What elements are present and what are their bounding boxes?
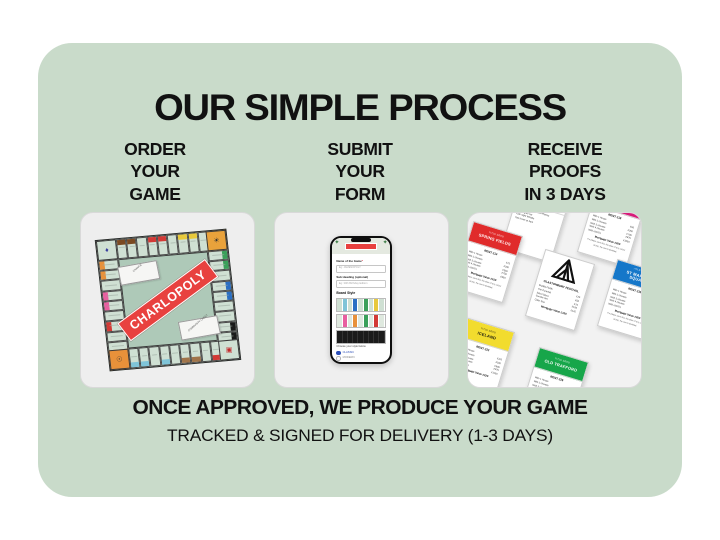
poster-canvas: OUR SIMPLE PROCESS ORDER YOUR GAME SUBMI…	[0, 0, 720, 540]
step-submit-line-1: SUBMIT	[265, 138, 455, 160]
step-titles-row: ORDER YOUR GAME SUBMIT YOUR FORM RECEIVE…	[60, 138, 660, 205]
board-corner-jail-icon: ☉	[108, 349, 130, 371]
page-title: OUR SIMPLE PROCESS	[28, 87, 691, 129]
section-title-board-style: Board Style	[336, 292, 385, 295]
hero-logo-band	[345, 243, 377, 251]
radio-dot-icon	[336, 351, 341, 356]
hero-left-icon: ✦	[334, 239, 339, 246]
card-game-board: ♦ ☀ ☉ ▣ CHANCE COMMUNITY CHEST CHARLOPOL…	[80, 212, 255, 388]
deed-card-old-trafford: TITLE DEED OLD TRAFFORD RENT £26 With 1 …	[519, 347, 589, 387]
deed-card-north-end: TITLE DEED NORTH END RENT £18 With 1 Hou…	[577, 213, 641, 267]
deed-cards-collage: TITLE DEED THE SOCIAL Travelling, Friend…	[468, 213, 641, 387]
step-order-line-3: GAME	[60, 183, 250, 205]
form-hint-style: Choose your style below	[336, 346, 385, 349]
field-label-game-name: Name of the Game*	[336, 260, 385, 263]
deed-body: Travelling, Friends and Parties Best nig…	[510, 213, 564, 236]
deed-card-st-martins-square: TITLE DEED ST MARTINS SQUARE RENT £35 Wi…	[597, 259, 641, 341]
board-style-preview-2[interactable]	[336, 314, 385, 328]
board-style-preview-1[interactable]	[336, 298, 385, 312]
step-receive-line-1: RECEIVE	[470, 138, 660, 160]
field-label-sub-heading: Sub Heading (optional)	[336, 276, 385, 279]
step-receive-line-3: IN 3 DAYS	[470, 183, 660, 205]
board-corner-free-parking-icon: ☀	[205, 230, 227, 252]
footer-line-2: TRACKED & SIGNED FOR DELIVERY (1-3 DAYS)	[32, 426, 689, 446]
step-order-line-2: YOUR	[60, 160, 250, 182]
phone-screen: ✦ ✦ Name of the Game* Eg: JAMESOPOLY Sub…	[332, 238, 389, 361]
field-input-sub-heading[interactable]: Eg: 30th Birthday Edition	[336, 280, 385, 288]
monopoly-board-image: ♦ ☀ ☉ ▣ CHANCE COMMUNITY CHEST CHARLOPOL…	[94, 229, 240, 372]
deed-body: RENT £35 With 1 House£175 With 2 Houses£…	[600, 279, 641, 334]
phone-notch	[351, 238, 371, 242]
footer-line-1: ONCE APPROVED, WE PRODUCE YOUR GAME	[32, 396, 689, 420]
board-corner-go-icon: ♦	[95, 239, 117, 261]
step-title-order: ORDER YOUR GAME	[60, 138, 250, 205]
footer-block: ONCE APPROVED, WE PRODUCE YOUR GAME TRAC…	[38, 396, 682, 446]
order-form: Name of the Game* Eg: JAMESOPOLY Sub Hea…	[332, 254, 389, 361]
step-submit-line-3: FORM	[265, 183, 455, 205]
green-panel: OUR SIMPLE PROCESS ORDER YOUR GAME SUBMI…	[38, 43, 682, 497]
hero-right-icon: ✦	[383, 239, 388, 246]
step-submit-line-2: YOUR	[265, 160, 455, 182]
step-title-receive: RECEIVE PROOFS IN 3 DAYS	[470, 138, 660, 205]
step-receive-line-2: PROOFS	[470, 160, 660, 182]
process-cards-row: ♦ ☀ ☉ ▣ CHANCE COMMUNITY CHEST CHARLOPOL…	[80, 212, 642, 386]
card-proof-deeds: TITLE DEED THE SOCIAL Travelling, Friend…	[467, 212, 642, 388]
step-title-submit: SUBMIT YOUR FORM	[265, 138, 455, 205]
field-input-game-name[interactable]: Eg: JAMESOPOLY	[336, 265, 385, 273]
step-order-line-1: ORDER	[60, 138, 250, 160]
radio-dot-icon	[336, 356, 341, 361]
deed-card-glastonbury-festival: GLASTONBURY FESTIVAL Muddy Fields£25 The…	[525, 249, 595, 331]
deed-card-iceland: TITLE DEED ICELAND RENT £22 With 1 House…	[468, 317, 515, 387]
board-corner-start-icon: ▣	[217, 339, 239, 361]
board-style-preview-3[interactable]	[336, 330, 385, 344]
card-submit-form: ✦ ✦ Name of the Game* Eg: JAMESOPOLY Sub…	[274, 212, 449, 388]
phone-mockup: ✦ ✦ Name of the Game* Eg: JAMESOPOLY Sub…	[330, 236, 392, 364]
board-frame: ♦ ☀ ☉ ▣ CHANCE COMMUNITY CHEST CHARLOPOL…	[94, 229, 240, 372]
deed-card-spring-fields: TITLE DEED SPRING FIELDS RENT £14 With 1…	[468, 221, 523, 303]
deed-body: RENT £18 With 1 House£90 With 2 Houses£2…	[580, 213, 640, 261]
radio-option-classic[interactable]: CLASSIC	[336, 351, 385, 356]
radio-option-modern[interactable]: MODERN	[336, 356, 385, 361]
